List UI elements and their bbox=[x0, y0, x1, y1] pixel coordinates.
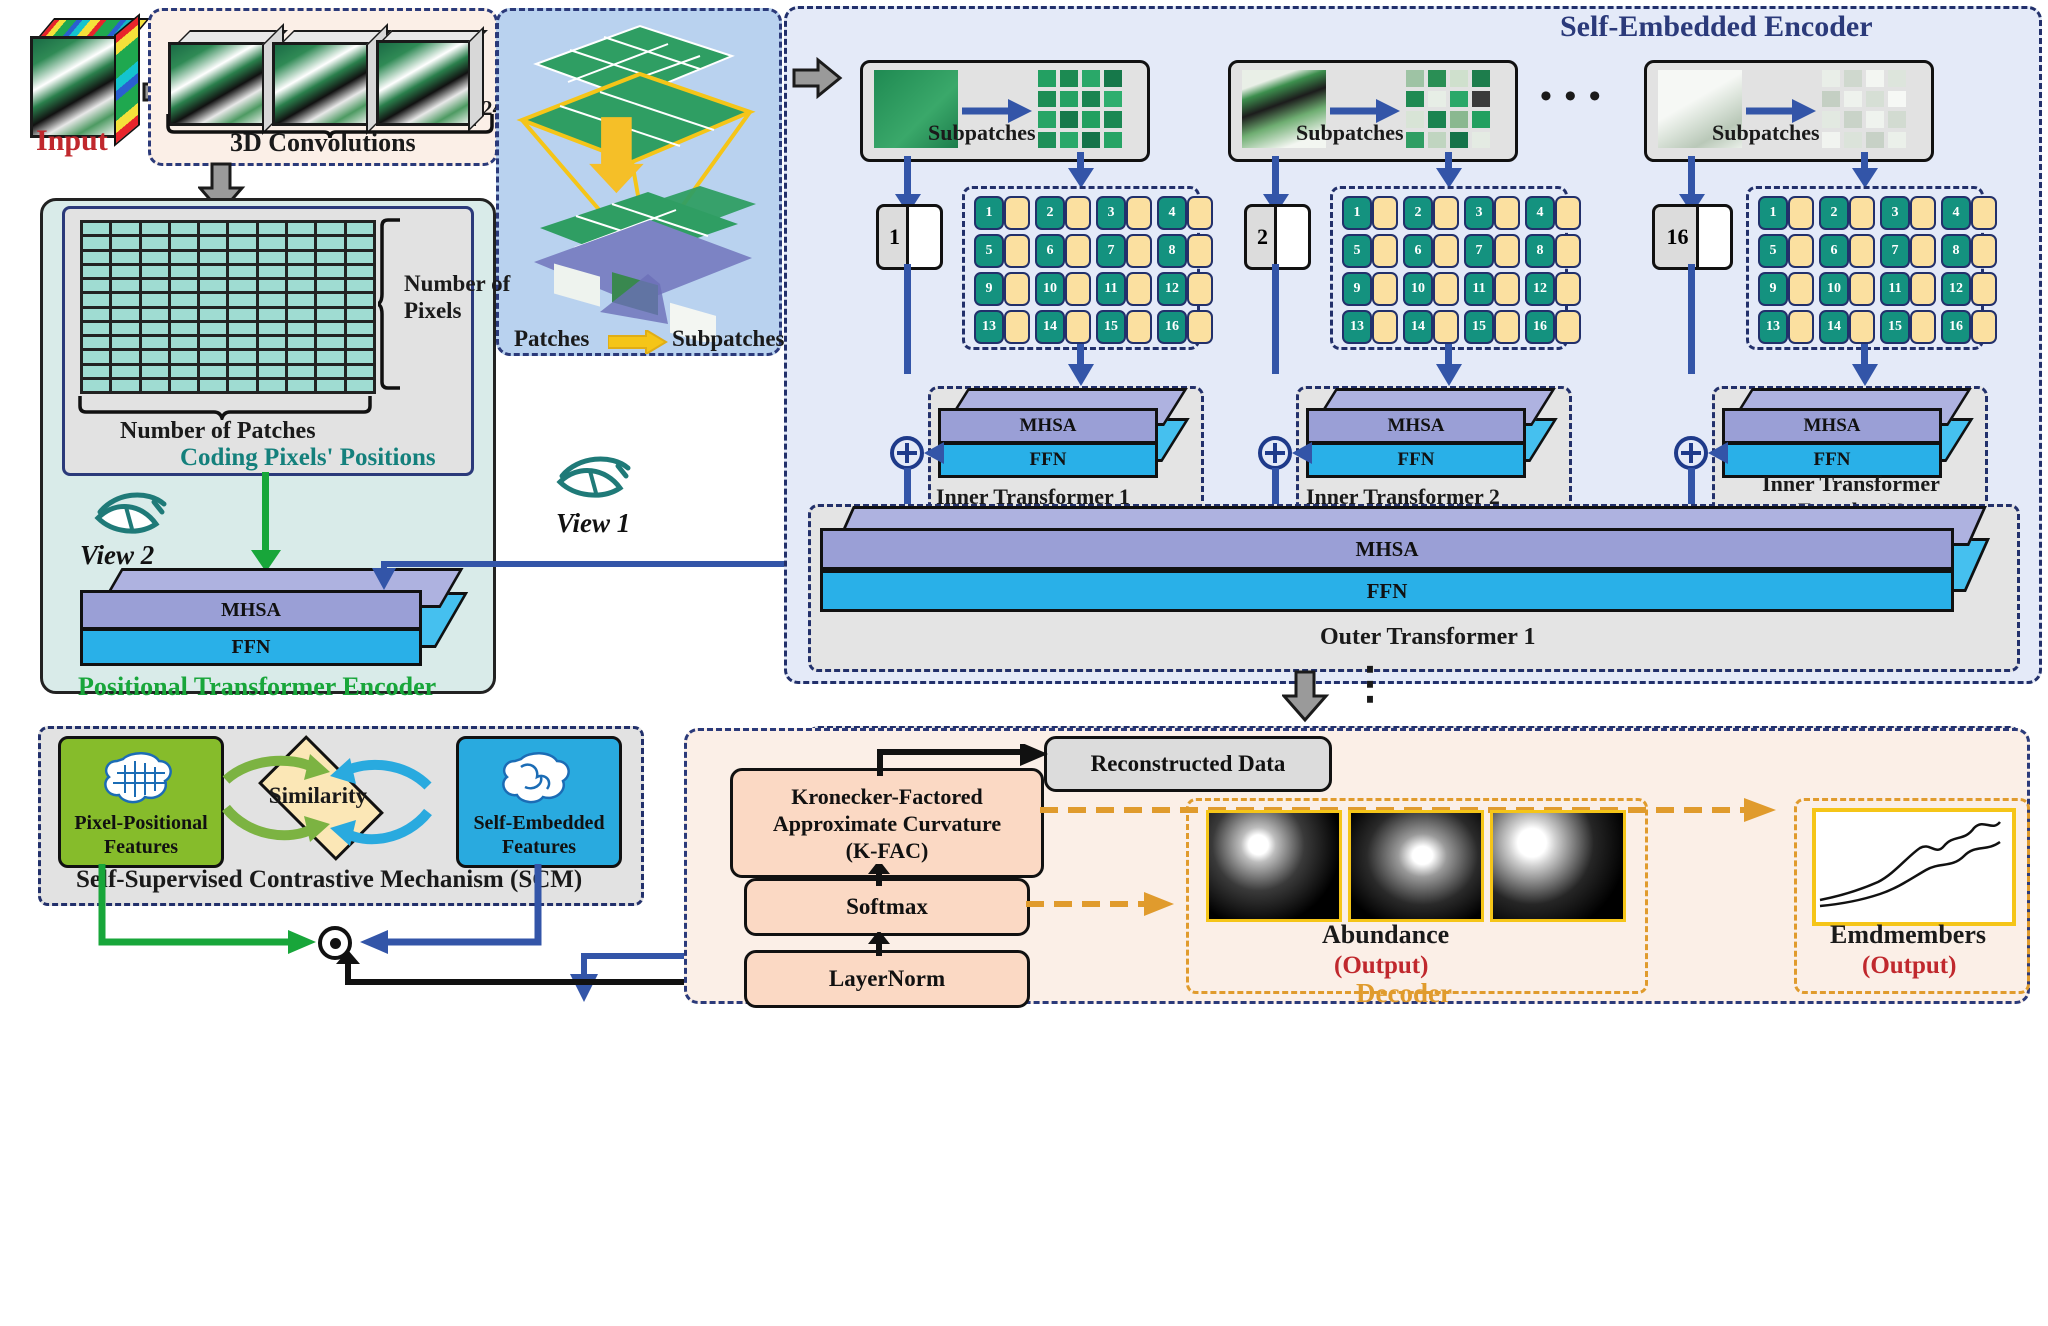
token-pad bbox=[1910, 272, 1936, 306]
token-pad bbox=[1126, 310, 1152, 344]
token-cell: 5 bbox=[1758, 234, 1788, 268]
token-pad bbox=[1187, 196, 1213, 230]
arrow-view1-to-encoder bbox=[792, 56, 844, 100]
product-dot-icon bbox=[330, 938, 341, 949]
token-cell: 6 bbox=[1035, 234, 1065, 268]
subpatch-grid-1 bbox=[1038, 70, 1122, 148]
subpatches-label-2: Subpatches bbox=[1296, 120, 1404, 146]
line-token1-down bbox=[904, 264, 911, 374]
token-pad bbox=[1555, 310, 1581, 344]
token-pad bbox=[1187, 310, 1213, 344]
abundance-output-label: (Output) bbox=[1334, 952, 1428, 980]
abundance-map-1 bbox=[1206, 810, 1342, 922]
token-cell: 9 bbox=[974, 272, 1004, 306]
token-cell: 7 bbox=[1464, 234, 1494, 268]
token-pad bbox=[1065, 234, 1091, 268]
abundance-label: Abundance bbox=[1322, 920, 1449, 950]
patches-label: Patches bbox=[514, 326, 589, 352]
token-cell: 13 bbox=[1342, 310, 1372, 344]
token-pad bbox=[1187, 234, 1213, 268]
token-cell: 12 bbox=[1941, 272, 1971, 306]
eye-icon-view2 bbox=[94, 486, 172, 542]
self-embedded-features-box[interactable]: Self-Embedded Features bbox=[456, 736, 622, 868]
brain-icon-blue bbox=[495, 747, 583, 809]
pos-ffn-label: FFN bbox=[232, 636, 271, 659]
token-cell: 6 bbox=[1403, 234, 1433, 268]
kfac-line1: Kronecker-Factored bbox=[791, 784, 982, 809]
subpatch-grid-2 bbox=[1406, 70, 1490, 148]
outer-slab-1: FFN MHSA bbox=[820, 506, 2006, 618]
token-cell: 9 bbox=[1758, 272, 1788, 306]
token-cell: 2 bbox=[1403, 196, 1433, 230]
endmembers-output-label: (Output) bbox=[1862, 952, 1956, 980]
inner-slab-16: FFN MHSA bbox=[1722, 388, 1976, 480]
token-pad bbox=[1849, 272, 1875, 306]
token-pad bbox=[1849, 196, 1875, 230]
token-pad bbox=[1555, 234, 1581, 268]
token-cell: 13 bbox=[974, 310, 1004, 344]
token-cell: 8 bbox=[1941, 234, 1971, 268]
arrow-inner1-to-add bbox=[924, 442, 946, 464]
endmembers-spectra-chart bbox=[1816, 812, 2004, 914]
token-cell: 15 bbox=[1096, 310, 1126, 344]
token-cell: 4 bbox=[1941, 196, 1971, 230]
token-cell: 10 bbox=[1035, 272, 1065, 306]
token-cell: 8 bbox=[1525, 234, 1555, 268]
token-cell: 7 bbox=[1096, 234, 1126, 268]
token-pad bbox=[1004, 234, 1030, 268]
class-token-1: 1 bbox=[876, 204, 938, 264]
softmax-box[interactable]: Softmax bbox=[744, 878, 1030, 936]
token-cell: 14 bbox=[1403, 310, 1433, 344]
class-token-2-index: 2 bbox=[1257, 224, 1268, 250]
token-pad bbox=[1372, 196, 1398, 230]
reconstructed-data-box[interactable]: Reconstructed Data bbox=[1044, 736, 1332, 792]
token-cell: 5 bbox=[1342, 234, 1372, 268]
arrowhead-inner-2 bbox=[1434, 362, 1464, 388]
token-pad bbox=[1910, 196, 1936, 230]
outer-vdots: ⋮ bbox=[1348, 662, 1392, 706]
class-token-16-index: 16 bbox=[1667, 224, 1689, 250]
token-pad bbox=[1849, 234, 1875, 268]
pos-mhsa-label: MHSA bbox=[221, 599, 281, 622]
token-cell: 4 bbox=[1157, 196, 1187, 230]
token-cell: 10 bbox=[1819, 272, 1849, 306]
token-pad bbox=[1433, 234, 1459, 268]
token-cell: 3 bbox=[1096, 196, 1126, 230]
token-pad bbox=[1126, 196, 1152, 230]
class-token-1-index: 1 bbox=[889, 224, 900, 250]
token-pad bbox=[1004, 310, 1030, 344]
token-cell: 12 bbox=[1525, 272, 1555, 306]
token-cell: 1 bbox=[974, 196, 1004, 230]
kfac-box[interactable]: Kronecker-Factored Approximate Curvature… bbox=[730, 768, 1044, 878]
token-cell: 1 bbox=[1342, 196, 1372, 230]
arrow-softmax-to-abundance bbox=[1026, 890, 1178, 918]
decoder-title: Decoder bbox=[1356, 978, 1452, 1009]
token-pad bbox=[1971, 272, 1997, 306]
token-pad bbox=[1433, 272, 1459, 306]
residual-add-1 bbox=[890, 436, 924, 470]
token-cell: 16 bbox=[1157, 310, 1187, 344]
arrow-coding-to-encoder bbox=[262, 472, 269, 556]
arrow-inner2-to-add bbox=[1292, 442, 1314, 464]
token-pad bbox=[1065, 196, 1091, 230]
branch-ellipsis: • • • bbox=[1540, 78, 1603, 116]
subpatches-label-16: Subpatches bbox=[1712, 120, 1820, 146]
similarity-arrows bbox=[218, 750, 438, 872]
input-cube bbox=[30, 18, 140, 134]
pixels-brace bbox=[378, 218, 404, 390]
arrow-layernorm-to-softmax bbox=[866, 932, 892, 956]
token-cell: 7 bbox=[1880, 234, 1910, 268]
token-rows-2: 1234 5678 9101112 13141516 bbox=[1342, 196, 1581, 348]
pixel-positional-label-line1: Pixel-Positional bbox=[74, 812, 207, 834]
token-pad bbox=[1372, 234, 1398, 268]
token-pad bbox=[1788, 196, 1814, 230]
inner-16-title-line1: Inner Transformer bbox=[1762, 471, 1940, 496]
token-cell: 10 bbox=[1403, 272, 1433, 306]
number-of-patches-label: Number of Patches bbox=[120, 418, 316, 445]
inner-ffn-label-2: FFN bbox=[1398, 449, 1435, 471]
outer-transformer-1-title: Outer Transformer 1 bbox=[1320, 624, 1536, 651]
inner-mhsa-label-2: MHSA bbox=[1388, 415, 1445, 437]
token-pad bbox=[1433, 196, 1459, 230]
residual-add-2 bbox=[1258, 436, 1292, 470]
view2-label: View 2 bbox=[80, 540, 154, 571]
token-pad bbox=[1788, 272, 1814, 306]
token-cell: 1 bbox=[1758, 196, 1788, 230]
token-pad bbox=[1004, 272, 1030, 306]
patches-to-subpatches-arrow-icon bbox=[608, 330, 668, 354]
arrow-inner16-to-add bbox=[1708, 442, 1730, 464]
token-cell: 13 bbox=[1758, 310, 1788, 344]
token-pad bbox=[1187, 272, 1213, 306]
token-cell: 12 bbox=[1157, 272, 1187, 306]
pixels-label-line2: Pixels bbox=[404, 298, 462, 323]
inner-ffn-label-16: FFN bbox=[1814, 449, 1851, 471]
pixel-positional-label-line2: Features bbox=[104, 836, 178, 858]
token-pad bbox=[1494, 196, 1520, 230]
subpatch-grid-16 bbox=[1822, 70, 1906, 148]
inner-mhsa-label-16: MHSA bbox=[1804, 415, 1861, 437]
token-cell: 4 bbox=[1525, 196, 1555, 230]
class-token-16: 16 bbox=[1652, 204, 1728, 264]
token-cell: 16 bbox=[1941, 310, 1971, 344]
token-pad bbox=[1372, 272, 1398, 306]
coding-pixels-title: Coding Pixels' Positions bbox=[180, 444, 436, 472]
brain-icon-green bbox=[97, 747, 185, 809]
arrowhead-inner-1 bbox=[1066, 362, 1096, 388]
subpatches-label-view1: Subpatches bbox=[672, 326, 784, 352]
conv-cube-1 bbox=[168, 30, 288, 120]
token-cell: 11 bbox=[1464, 272, 1494, 306]
arrow-outer1-to-outerr bbox=[1282, 670, 1330, 724]
token-pad bbox=[1971, 310, 1997, 344]
token-pad bbox=[1788, 310, 1814, 344]
token-pad bbox=[1555, 196, 1581, 230]
conv-title: 3D Convolutions bbox=[230, 128, 416, 158]
self-embedded-label-line1: Self-Embedded bbox=[473, 812, 604, 834]
token-cell: 14 bbox=[1035, 310, 1065, 344]
arrowhead-inner-16 bbox=[1850, 362, 1880, 388]
layernorm-box[interactable]: LayerNorm bbox=[744, 950, 1030, 1008]
token-pad bbox=[1004, 196, 1030, 230]
token-pad bbox=[1433, 310, 1459, 344]
arrow-softmax-to-kfac bbox=[866, 864, 892, 886]
line-token16-down bbox=[1688, 264, 1695, 374]
abundance-map-2 bbox=[1348, 810, 1484, 922]
endmembers-label: Emdmembers bbox=[1830, 920, 1986, 950]
token-cell: 11 bbox=[1880, 272, 1910, 306]
kfac-line3: (K-FAC) bbox=[846, 838, 929, 863]
token-cell: 14 bbox=[1819, 310, 1849, 344]
reconstructed-label: Reconstructed Data bbox=[1091, 751, 1286, 777]
positional-encoder-title: Positional Transformer Encoder bbox=[78, 672, 436, 702]
layernorm-label: LayerNorm bbox=[829, 966, 945, 992]
token-pad bbox=[1555, 272, 1581, 306]
inner-ffn-label-1: FFN bbox=[1030, 449, 1067, 471]
softmax-label: Softmax bbox=[846, 894, 928, 920]
token-cell: 6 bbox=[1819, 234, 1849, 268]
outer1-ffn-label: FFN bbox=[1367, 579, 1408, 604]
token-rows-16: 1234 5678 9101112 13141516 bbox=[1758, 196, 1997, 348]
token-pad bbox=[1494, 310, 1520, 344]
token-rows-1: 1234 5678 9101112 13141516 bbox=[974, 196, 1213, 348]
inner-slab-1: FFN MHSA bbox=[938, 388, 1192, 480]
token-cell: 8 bbox=[1157, 234, 1187, 268]
eye-icon-view1 bbox=[556, 448, 636, 504]
token-cell: 9 bbox=[1342, 272, 1372, 306]
token-pad bbox=[1910, 310, 1936, 344]
abundance-map-3 bbox=[1490, 810, 1626, 922]
arrow-kfac-to-reconstructed bbox=[876, 744, 1052, 780]
token-cell: 16 bbox=[1525, 310, 1555, 344]
patches-subpatches-illustration bbox=[500, 12, 772, 342]
token-pad bbox=[1788, 234, 1814, 268]
token-pad bbox=[1126, 234, 1152, 268]
token-pad bbox=[1849, 310, 1875, 344]
token-pad bbox=[1494, 234, 1520, 268]
token-cell: 11 bbox=[1096, 272, 1126, 306]
self-embedded-label-line2: Features bbox=[502, 836, 576, 858]
token-pad bbox=[1372, 310, 1398, 344]
token-pad bbox=[1971, 196, 1997, 230]
inner-slab-2: FFN MHSA bbox=[1306, 388, 1560, 480]
token-cell: 3 bbox=[1880, 196, 1910, 230]
pixels-label-line1: Number of bbox=[404, 271, 510, 296]
token-pad bbox=[1910, 234, 1936, 268]
conv-cube-2 bbox=[272, 30, 392, 120]
pixel-positional-features-box[interactable]: Pixel-Positional Features bbox=[58, 736, 224, 868]
token-cell: 15 bbox=[1880, 310, 1910, 344]
token-pad bbox=[1065, 310, 1091, 344]
token-pad bbox=[1494, 272, 1520, 306]
residual-add-16 bbox=[1674, 436, 1708, 470]
token-cell: 3 bbox=[1464, 196, 1494, 230]
token-cell: 2 bbox=[1035, 196, 1065, 230]
kfac-line2: Approximate Curvature bbox=[773, 811, 1001, 836]
arrow-scm-to-product bbox=[96, 862, 326, 974]
arrow-layernorm-to-product bbox=[334, 952, 732, 990]
pixel-patch-grid bbox=[80, 220, 376, 394]
patches-brace bbox=[78, 394, 372, 420]
inner-mhsa-label-1: MHSA bbox=[1020, 415, 1077, 437]
token-pad bbox=[1971, 234, 1997, 268]
token-pad bbox=[1126, 272, 1152, 306]
input-label: Input bbox=[36, 124, 108, 158]
outer1-mhsa-label: MHSA bbox=[1356, 537, 1419, 562]
endmembers-plot-frame bbox=[1812, 808, 2016, 926]
subpatches-label-1: Subpatches bbox=[928, 120, 1036, 146]
conv-cube-3 bbox=[376, 30, 486, 120]
token-cell: 2 bbox=[1819, 196, 1849, 230]
number-of-pixels-label: Number of Pixels bbox=[404, 270, 510, 324]
token-cell: 5 bbox=[974, 234, 1004, 268]
token-pad bbox=[1065, 272, 1091, 306]
class-token-2: 2 bbox=[1244, 204, 1306, 264]
line-token2-down bbox=[1272, 264, 1279, 374]
self-embedded-encoder-title: Self-Embedded Encoder bbox=[1560, 10, 1873, 44]
token-cell: 15 bbox=[1464, 310, 1494, 344]
